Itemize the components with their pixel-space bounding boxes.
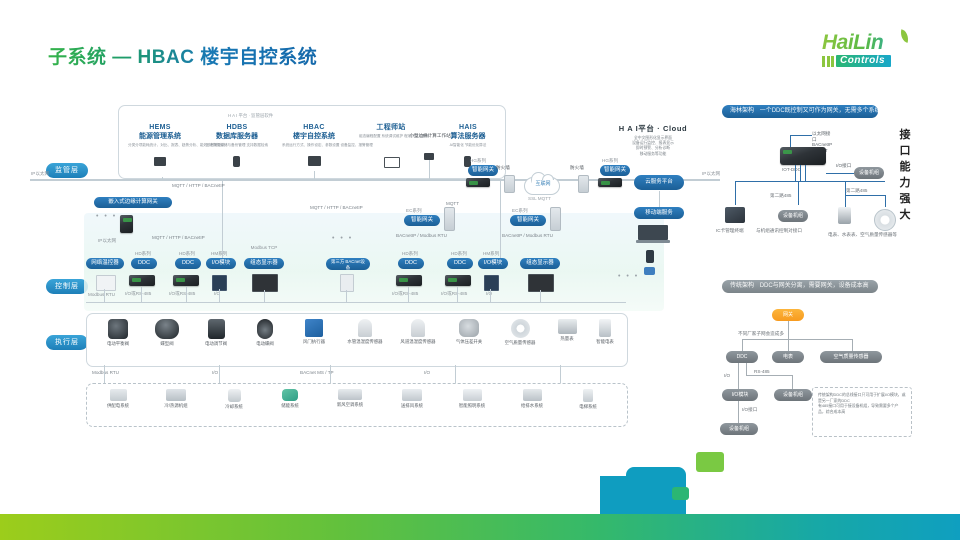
- system-3-label: 储能系统: [268, 403, 312, 409]
- gateway-series-2: HG系列: [602, 158, 618, 164]
- control-drop-2: [186, 287, 187, 303]
- exec-drop-0: [104, 365, 105, 385]
- cloud-platform-pill: 云服务平台: [634, 175, 684, 190]
- legacy-note-text: 传统架构DDC的总线接口只可用于扩展I/O模块，或是另一厂家的DDC 有485接…: [818, 392, 906, 414]
- bottom-gradient-bar: [0, 514, 960, 540]
- embedded-edge-gateway-device: [120, 215, 133, 233]
- legacy-ddc-node: DDC: [726, 351, 758, 363]
- exec-device-1: 蝶型阀: [145, 319, 189, 347]
- control-item-6-io: I/O或RS-485: [392, 291, 418, 297]
- hmi-icon-1: [252, 274, 278, 292]
- ec-protocol-1: BACnetIP / Modbus RTU: [396, 233, 447, 239]
- control-item-9-pill: 组态显示器: [520, 258, 560, 269]
- card-hais-code: HAIS: [436, 123, 500, 132]
- exec-device-7: 气体压差开关: [447, 319, 491, 345]
- control-item-8-series: HM系列: [483, 251, 499, 257]
- ec-series-2: EC系列: [512, 208, 528, 214]
- system-1: 冷/热源机组: [152, 389, 200, 409]
- edge-station-label: 小型边缘计算工作站: [398, 133, 462, 140]
- ec-gateway-pill-1: 智能网关: [404, 215, 440, 226]
- control-drop-9: [540, 290, 541, 303]
- valve-icon: [108, 319, 128, 339]
- hailin-branch-left: [735, 181, 736, 205]
- control-item-3-series: HM系列: [211, 251, 227, 257]
- damper-actuator-icon: [305, 319, 323, 337]
- legacy-gw-b2: [788, 339, 789, 351]
- card-engineer-code: 工程师站: [359, 123, 423, 132]
- control-drop-8: [490, 289, 491, 303]
- legacy-link-io: I/O: [724, 373, 730, 379]
- card-hems-name: 能源管理系统: [128, 132, 192, 141]
- electric-butterfly-icon: [257, 319, 273, 339]
- legacy-link-io2: I/O接口: [742, 407, 757, 413]
- system-4: 新风空调系统: [324, 389, 376, 408]
- water-icon: [523, 389, 542, 401]
- thermostat-icon: [96, 275, 116, 291]
- card-hbac-name: 楼宇自控系统: [282, 132, 346, 141]
- exec-device-6: 风道温湿度传感器: [394, 319, 442, 345]
- system-0: 供配电系统: [94, 389, 142, 409]
- internet-label: 互联网: [532, 180, 554, 188]
- control-item-2-io: I/O或RS-485: [169, 291, 195, 297]
- iot-ddc-label: IOT-DDC: [782, 167, 801, 173]
- control-item-7-series: HD系列: [451, 251, 467, 257]
- control-item-6-series: HD系列: [402, 251, 418, 257]
- hailin-arch-desc: 一个DDC既控制又可作为网关，无需多个系统: [760, 108, 881, 114]
- control-valve-icon: [208, 319, 225, 339]
- legacy-meter-node: 电表: [772, 351, 804, 363]
- hai-cloud-desc: 全中文图形化显示界面 设备运行监控、报表显示 即时预警、分析诊断 移动服务等功能: [598, 136, 708, 157]
- control-item-3-pill: I/O模块: [206, 258, 236, 269]
- page-title: 子系统 — HBAC 楼宇自控系统: [48, 42, 317, 69]
- firewall-icon-2: [578, 175, 589, 193]
- pipe-sensor-icon: [358, 319, 372, 337]
- exec-device-10-label: 智能电表: [588, 339, 622, 345]
- control-item-1-device: [129, 275, 155, 286]
- control-drop-4: [264, 290, 265, 303]
- aq-sensor-icon: [874, 209, 896, 231]
- edge-station-link: [429, 160, 430, 180]
- firewall-label-2: 防火墙: [570, 165, 584, 171]
- gateway-device-1: [466, 178, 490, 187]
- legacy-link-485: RS-485: [754, 369, 770, 375]
- card-hais-desc: AI智能化 节能优化算法: [436, 143, 500, 148]
- gateway-pill-1: 智能网关: [468, 165, 498, 176]
- gateway-series-1: HG系列: [470, 158, 486, 164]
- power-icon: [110, 389, 127, 401]
- ec-protocol-2: BACnetIP / Modbus RTU: [502, 233, 553, 239]
- legacy-note-box: 传统架构DDC的总线接口只可用于扩展I/O模块，或是另一厂家的DDC 有485接…: [812, 387, 912, 437]
- exec-drop-1: [219, 365, 220, 385]
- control-item-4-pill: 组态显示器: [244, 258, 284, 269]
- server-icon: [154, 157, 166, 166]
- bus-label-left: IP以太网: [31, 171, 49, 177]
- control-item-8-pill: I/O模块: [478, 258, 508, 269]
- card-hems-code: HEMS: [128, 123, 192, 132]
- hai-cloud-title: H A I平台 · Cloud: [598, 123, 708, 134]
- legacy-equip-b: 设备机组: [774, 389, 812, 401]
- hailin-arch-title: 海林架构: [730, 108, 754, 114]
- legacy-arch-badge: 传统架构 DDC与网关分离，需要网关，设备成本高: [722, 280, 878, 293]
- edge-station-icon: [424, 153, 434, 160]
- hailin-trunk-1: [795, 165, 796, 181]
- card-hdbs-name: 数据库服务器: [205, 132, 269, 141]
- control-drop-7: [457, 287, 458, 303]
- exec-device-5: 水管温湿度传感器: [341, 319, 389, 345]
- ec-firewall-1: [444, 207, 455, 231]
- legacy-gateway-node: 网关: [772, 309, 804, 321]
- legacy-io-module: I/O模块: [722, 389, 758, 401]
- exec-device-1-label: 蝶型阀: [145, 341, 189, 347]
- architecture-diagram: 监管层 控制层 执行层 H A I 平台 · 监管层软件 HEMS 能源管理系统…: [0, 95, 960, 460]
- control-drop-3: [219, 289, 220, 303]
- system-7-label: 给排水系统: [508, 403, 556, 409]
- control-drop-0: [104, 289, 105, 303]
- card-hdbs: HDBS 数据库服务器 历史数据存储与备份管理 支持数据检索: [205, 123, 269, 148]
- link-hbac: [314, 171, 315, 181]
- control-bus: [86, 302, 626, 303]
- legacy-gw-note: 不同厂家子网会造成多: [738, 331, 784, 337]
- hailin-trunk-3: [805, 165, 806, 181]
- exec-protocol-io: I/O: [212, 370, 218, 376]
- hailin-equip-mid-label: 与机组通讯控制对接口: [756, 228, 802, 234]
- system-0-label: 供配电系统: [94, 403, 142, 409]
- control-drop-6: [408, 287, 409, 303]
- pressure-switch-icon: [459, 319, 479, 337]
- legacy-485-v: [746, 363, 747, 375]
- internet-cloud-icon: 互联网: [524, 177, 560, 195]
- decor-shape-green-large: [696, 452, 724, 472]
- cloud-platform-link: [659, 191, 660, 207]
- bus-label-right: IP以太网: [702, 171, 720, 177]
- exec-device-9-label: 热量表: [549, 336, 585, 342]
- layer-tag-control: 控制层: [46, 279, 88, 294]
- butterfly-valve-icon: [155, 319, 179, 339]
- ic-card-terminal-icon: [725, 207, 745, 223]
- card-hbac: HBAC 楼宇自控系统 系统运行方式、操作设定、参数设置 设备监控、报警管理: [282, 123, 346, 148]
- control-item-5-pill: 第三方 BACnet设备: [326, 258, 370, 270]
- control-item-7-pill: DDC: [447, 258, 473, 269]
- system-3: 储能系统: [268, 389, 312, 409]
- system-8-label: 电梯系统: [566, 404, 610, 410]
- legacy-aq-node: 空气质量传感器: [820, 351, 882, 363]
- card-hdbs-code: HDBS: [205, 123, 269, 132]
- ic-card-terminal-label: IC卡管理终端: [716, 228, 744, 234]
- io-module-icon-2: [484, 275, 499, 291]
- layer-tag-execution: 执行层: [46, 335, 88, 350]
- database-icon: [233, 156, 240, 167]
- ellipsis-left: • • •: [96, 213, 117, 220]
- hailin-branch-r1: [845, 195, 846, 207]
- hmi-icon-2: [528, 274, 554, 292]
- meter-icon: [838, 207, 851, 224]
- hailin-equip-mid: 设备机组: [778, 210, 808, 222]
- chiller-icon: [166, 389, 186, 401]
- system-8: 电梯系统: [566, 389, 610, 410]
- system-2-label: 冷却系统: [212, 404, 256, 410]
- control-item-1-pill: DDC: [131, 258, 157, 269]
- control-item-0-pill: 网络温控器: [86, 258, 124, 269]
- exec-device-0-label: 电动平衡阀: [96, 341, 140, 347]
- hailin-arch-badge: 海林架构 一个DDC既控制又可作为网关，无需多个系统: [722, 105, 878, 118]
- ellipsis-right: • • •: [618, 273, 639, 280]
- smart-meter-icon: [599, 319, 611, 337]
- layer-tag-supervision: 监管层: [46, 163, 88, 178]
- system-1-label: 冷/热源机组: [152, 403, 200, 409]
- hailin-trunk-2: [800, 165, 801, 181]
- legacy-485-drop: [792, 375, 793, 389]
- controller-icon: [308, 156, 321, 166]
- embedded-edge-gateway-pill: 嵌入式边缘计算网关: [94, 197, 172, 208]
- exec-drop-2: [330, 365, 331, 385]
- legacy-gw-drop: [788, 321, 789, 339]
- control-item-7-io: I/O或RS-485: [441, 291, 467, 297]
- system-4-label: 新风空调系统: [324, 402, 376, 408]
- protocol-label-2: MQTT / HTTP / BACnetIP: [152, 235, 205, 241]
- hailin-logo: HaiLin Controls: [822, 32, 932, 72]
- hai-cloud-block: H A I平台 · Cloud 全中文图形化显示界面 设备运行监控、报表显示 即…: [598, 123, 708, 157]
- legacy-equip-a: 设备机组: [720, 423, 758, 435]
- legacy-gw-b3: [852, 339, 853, 351]
- system-5: 送排风系统: [388, 389, 436, 409]
- hailin-branch-r2: [885, 195, 886, 207]
- lighting-icon: [463, 389, 482, 401]
- duct-sensor-icon: [411, 319, 425, 337]
- legacy-gw-bus: [742, 339, 852, 340]
- heat-meter-icon: [558, 319, 577, 334]
- exec-device-3: 电动蝶阀: [243, 319, 287, 347]
- control-drop-1: [141, 287, 142, 303]
- control-item-0-bus: Modbus RTU: [88, 292, 115, 298]
- legacy-485-h: [746, 375, 792, 376]
- ec-gateway-pill-2: 智能网关: [510, 215, 546, 226]
- embedded-edge-bus-label: IP以太网: [98, 238, 116, 244]
- link-zone-divider-1: [500, 179, 501, 265]
- link-hems: [162, 177, 163, 181]
- exec-device-2-label: 电动调节阀: [194, 341, 238, 347]
- modbus-tcp-label: Modbus TCP: [244, 245, 284, 251]
- hailin-right-devices-label: 电表、水表表、空气质量传感器等: [828, 232, 897, 238]
- ssl-mqtt-label: SSL MQTT: [528, 196, 551, 202]
- exec-drop-4: [560, 365, 561, 385]
- control-item-7-device: [445, 275, 471, 286]
- air-quality-icon: [511, 319, 530, 338]
- system-6: 智能照明系统: [448, 389, 496, 409]
- card-hdbs-desc: 历史数据存储与备份管理 支持数据检索: [205, 143, 269, 148]
- mobile-platform-pill: 移动端服务: [634, 207, 684, 219]
- control-item-2-pill: DDC: [175, 258, 201, 269]
- ec-firewall-2: [550, 207, 561, 231]
- storage-icon: [282, 389, 298, 401]
- cooling-tower-icon: [228, 389, 241, 402]
- protocol-label-3: MQTT / HTTP / BACnetIP: [310, 205, 363, 211]
- exec-device-9: 热量表: [549, 319, 585, 342]
- control-item-1-io: I/O或RS-485: [125, 291, 151, 297]
- legacy-ddc-drop: [738, 363, 739, 389]
- exec-device-4: 风门执行器: [292, 319, 336, 345]
- third-party-icon: [340, 274, 354, 292]
- fan-icon: [402, 389, 422, 401]
- system-5-label: 送排风系统: [388, 403, 436, 409]
- control-item-1-series: HD系列: [135, 251, 151, 257]
- exec-device-5-label: 水管温湿度传感器: [341, 339, 389, 345]
- iot-ddc-device: [780, 147, 826, 165]
- card-hbac-desc: 系统运行方式、操作设定、参数设置 设备监控、报警管理: [282, 143, 346, 148]
- hailin-branch-mid: [798, 181, 799, 205]
- elevator-icon: [583, 389, 593, 402]
- control-drop-5: [346, 290, 347, 303]
- exec-device-3-label: 电动蝶阀: [243, 341, 287, 347]
- workstation-icon: [384, 157, 400, 168]
- laptop-icon: [636, 225, 672, 245]
- control-item-6-device: [396, 275, 422, 286]
- hailin-line-io: [826, 173, 854, 174]
- legacy-arch-desc: DDC与网关分离，需要网关，设备成本高: [760, 283, 869, 289]
- hailin-bus-second-2: 第二路485: [846, 188, 867, 194]
- hailin-branch-right-h: [845, 195, 885, 196]
- control-item-2-device: [173, 275, 199, 286]
- logo-bars-icon: [822, 56, 834, 67]
- hailin-equip-right: 设备机组: [854, 167, 884, 179]
- supervision-panel-header: H A I 平台 · 监管层软件: [228, 113, 273, 119]
- logo-wordmark: HaiLin: [822, 32, 932, 53]
- decor-shape-green-small: [672, 487, 689, 500]
- exec-device-10: 智能电表: [588, 319, 622, 345]
- phone-icon: [646, 250, 654, 263]
- right-panel-vertical-text: 接口能力强大: [898, 127, 912, 223]
- ec-series-1: EC系列: [406, 208, 422, 214]
- control-item-6-pill: DDC: [398, 258, 424, 269]
- hailin-bus-second-1: 第二路485: [770, 193, 791, 199]
- hailin-bus: [735, 181, 885, 182]
- exec-protocol-io-2: I/O: [424, 370, 430, 376]
- exec-device-0: 电动平衡阀: [96, 319, 140, 347]
- legacy-arch-title: 传统架构: [730, 283, 754, 289]
- firewall-icon-1: [504, 175, 515, 193]
- control-item-2-series: HD系列: [179, 251, 195, 257]
- exec-drop-3: [455, 365, 456, 385]
- exec-device-4-label: 风门执行器: [292, 339, 336, 345]
- card-hems: HEMS 能源管理系统 分类分项能耗统计、对比、报表、趋势分析、能效诊断等功能: [128, 123, 192, 148]
- ahu-icon: [338, 389, 362, 400]
- system-2: 冷却系统: [212, 389, 256, 410]
- exec-protocol-bacnet: BACnet MS / TP: [300, 370, 334, 376]
- exec-device-8: 空气质量传感器: [496, 319, 544, 346]
- gateway-pill-2: 智能网关: [600, 165, 630, 176]
- legacy-gw-b1: [742, 339, 743, 351]
- card-hbac-code: HBAC: [282, 123, 346, 132]
- system-7: 给排水系统: [508, 389, 556, 409]
- exec-device-7-label: 气体压差开关: [447, 339, 491, 345]
- exec-protocol-modbus: Modbus RTU: [92, 370, 119, 376]
- gateway-device-2: [598, 178, 622, 187]
- legacy-io-drop: [738, 401, 739, 423]
- protocol-label-1: MQTT / HTTP / BACnetIP: [172, 183, 225, 189]
- ellipsis-mid: • • •: [332, 235, 353, 242]
- hailin-line-up-h: [790, 135, 812, 136]
- card-hems-desc: 分类分项能耗统计、对比、报表、趋势分析、能效诊断等功能: [128, 143, 192, 148]
- exec-device-8-label: 空气质量传感器: [496, 340, 544, 346]
- firewall-label-1: 防火墙: [496, 165, 510, 171]
- exec-device-6-label: 风道温湿度传感器: [394, 339, 442, 345]
- exec-device-2: 电动调节阀: [194, 319, 238, 347]
- system-6-label: 智能照明系统: [448, 403, 496, 409]
- logo-subtext: Controls: [836, 55, 891, 67]
- hailin-iface-io-label: I/O接口: [836, 163, 851, 169]
- tablet-icon: [644, 267, 655, 275]
